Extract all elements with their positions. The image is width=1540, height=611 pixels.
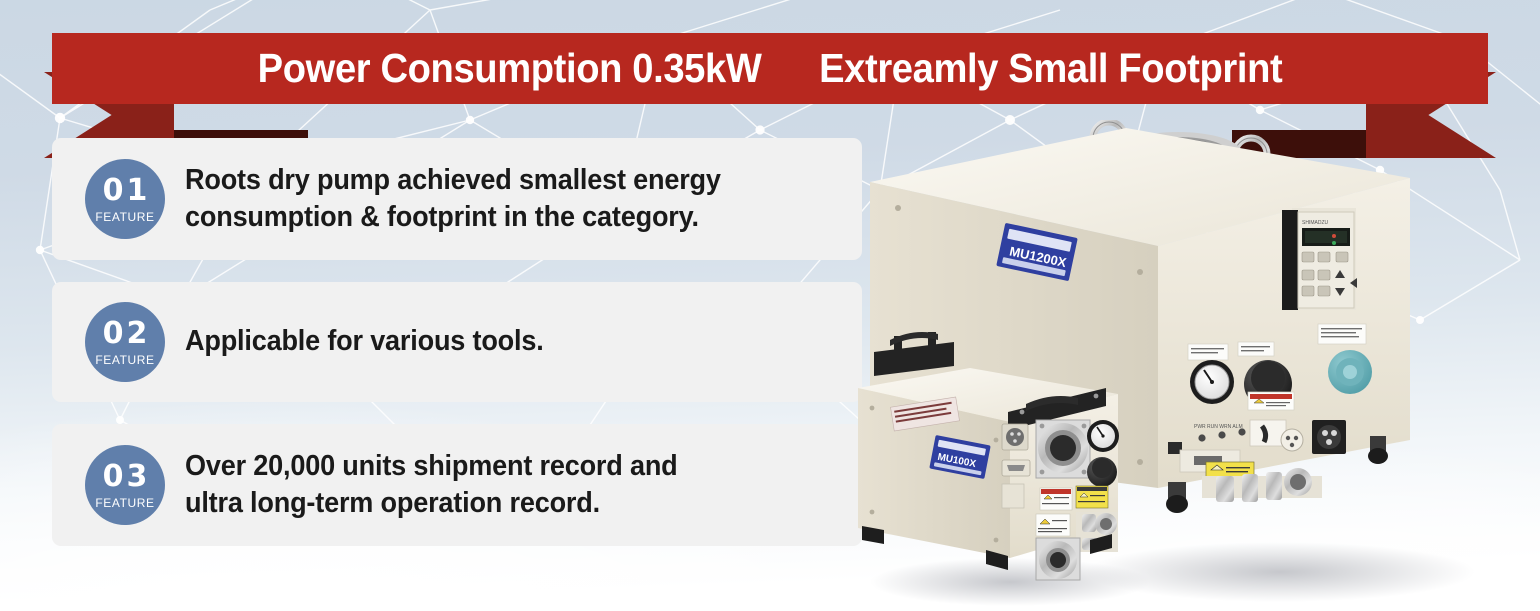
regulator-knob-small <box>1087 457 1117 487</box>
feature-number: 01 <box>103 176 151 206</box>
feature-text-01: Roots dry pump achieved smallest energy … <box>185 162 721 236</box>
svg-text:SHIMADZU: SHIMADZU <box>1302 220 1329 226</box>
svg-text:PWR RUN WRN ALM: PWR RUN WRN ALM <box>1194 424 1243 430</box>
inlet-flange-port <box>1036 420 1090 478</box>
socket-round-large <box>1281 429 1303 451</box>
feature-card-list: 01 FEATURE Roots dry pump achieved small… <box>52 138 862 568</box>
power-connector-large <box>1312 420 1346 454</box>
blank-panel-small <box>1002 484 1024 508</box>
feature-text-line: Roots dry pump achieved smallest energy <box>185 162 721 199</box>
feature-text-line: consumption & footprint in the category. <box>185 199 721 236</box>
control-panel: SHIMADZU <box>1282 208 1357 310</box>
feature-card-03: 03 FEATURE Over 20,000 units shipment re… <box>52 424 862 546</box>
ribbon-headline: Power Consumption 0.35kW Extreamly Small… <box>102 33 1437 104</box>
feature-badge-03: 03 FEATURE <box>85 445 165 525</box>
feature-text-02: Applicable for various tools. <box>185 323 544 360</box>
electrical-connector-small <box>1002 424 1028 450</box>
feature-number: 03 <box>103 462 151 492</box>
feature-badge-02: 02 FEATURE <box>85 302 165 382</box>
feature-card-02: 02 FEATURE Applicable for various tools. <box>52 282 862 402</box>
product-photo: MU1200X SHIMADZU <box>850 120 1540 611</box>
dsub-connector-small <box>1002 460 1030 476</box>
headline-ribbon: Power Consumption 0.35kW Extreamly Small… <box>0 26 1540 112</box>
feature-text-line: Over 20,000 units shipment record and <box>185 448 678 485</box>
shadow-large-pump <box>1085 542 1475 602</box>
shadow-small-pump <box>870 558 1150 606</box>
feature-caption: FEATURE <box>95 354 154 366</box>
feature-text-03: Over 20,000 units shipment record and ul… <box>185 448 678 522</box>
feature-number: 02 <box>103 319 151 349</box>
feature-badge-01: 01 FEATURE <box>85 159 165 239</box>
feature-text-line: ultra long-term operation record. <box>185 485 678 522</box>
pressure-gauge-large <box>1190 360 1234 404</box>
outlet-port-small <box>1036 538 1080 580</box>
headline-small-footprint: Extreamly Small Footprint <box>819 45 1282 92</box>
feature-text-line: Applicable for various tools. <box>185 323 544 360</box>
feature-caption: FEATURE <box>95 497 154 509</box>
valve-cap-teal <box>1328 350 1372 394</box>
banner-stage: Power Consumption 0.35kW Extreamly Small… <box>0 0 1540 611</box>
feature-card-01: 01 FEATURE Roots dry pump achieved small… <box>52 138 862 260</box>
feature-caption: FEATURE <box>95 211 154 223</box>
pressure-gauge-small <box>1087 420 1119 452</box>
headline-power-consumption: Power Consumption 0.35kW <box>258 45 762 92</box>
